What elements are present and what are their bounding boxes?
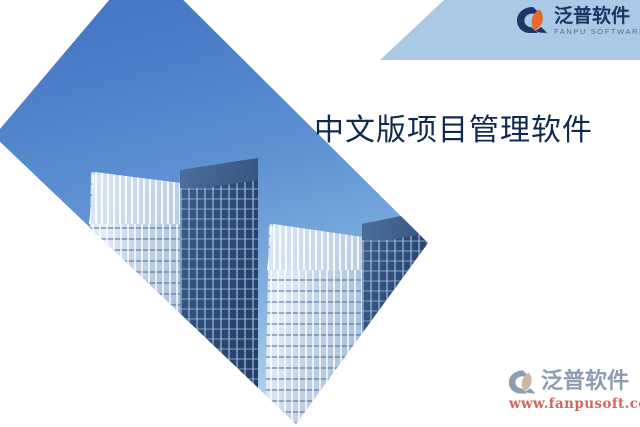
watermark-logo-row: 泛普软件 <box>508 369 629 395</box>
brand-name-en: FANPU SOFTWARE <box>554 27 640 37</box>
footer-watermark: 泛普软件 www.fanpusoft.com <box>508 369 640 412</box>
tower-right-fins <box>267 224 363 270</box>
tower-left <box>85 150 257 427</box>
watermark-brand-name: 泛普软件 <box>541 370 629 394</box>
tower-right-fin-strip <box>267 224 363 270</box>
fanpu-logo-mark-icon <box>516 6 550 34</box>
tower-right-side-face <box>362 210 431 427</box>
skyscraper-photo <box>75 140 435 427</box>
blue-diamond-photo-frame <box>0 0 640 427</box>
brand-logo[interactable]: 泛普软件 FANPU SOFTWARE <box>516 6 640 37</box>
tower-left-side-windows <box>180 158 258 427</box>
fanpu-logo-mark-muted-icon <box>508 369 538 395</box>
brand-logo-text: 泛普软件 FANPU SOFTWARE <box>554 6 640 37</box>
tower-left-fins <box>89 172 181 224</box>
watermark-url[interactable]: www.fanpusoft.com <box>509 396 640 412</box>
tower-left-fin-strip <box>89 172 181 224</box>
slide-canvas: 泛普软件 FANPU SOFTWARE 中文版项目管理软件 泛普软件 www.f… <box>0 0 640 427</box>
tower-left-side-face <box>180 158 258 427</box>
tower-right <box>263 200 431 427</box>
tower-right-roof <box>362 210 431 240</box>
page-title: 中文版项目管理软件 <box>314 105 593 149</box>
tower-right-side-windows <box>362 210 431 427</box>
brand-name-cn: 泛普软件 <box>554 6 640 26</box>
